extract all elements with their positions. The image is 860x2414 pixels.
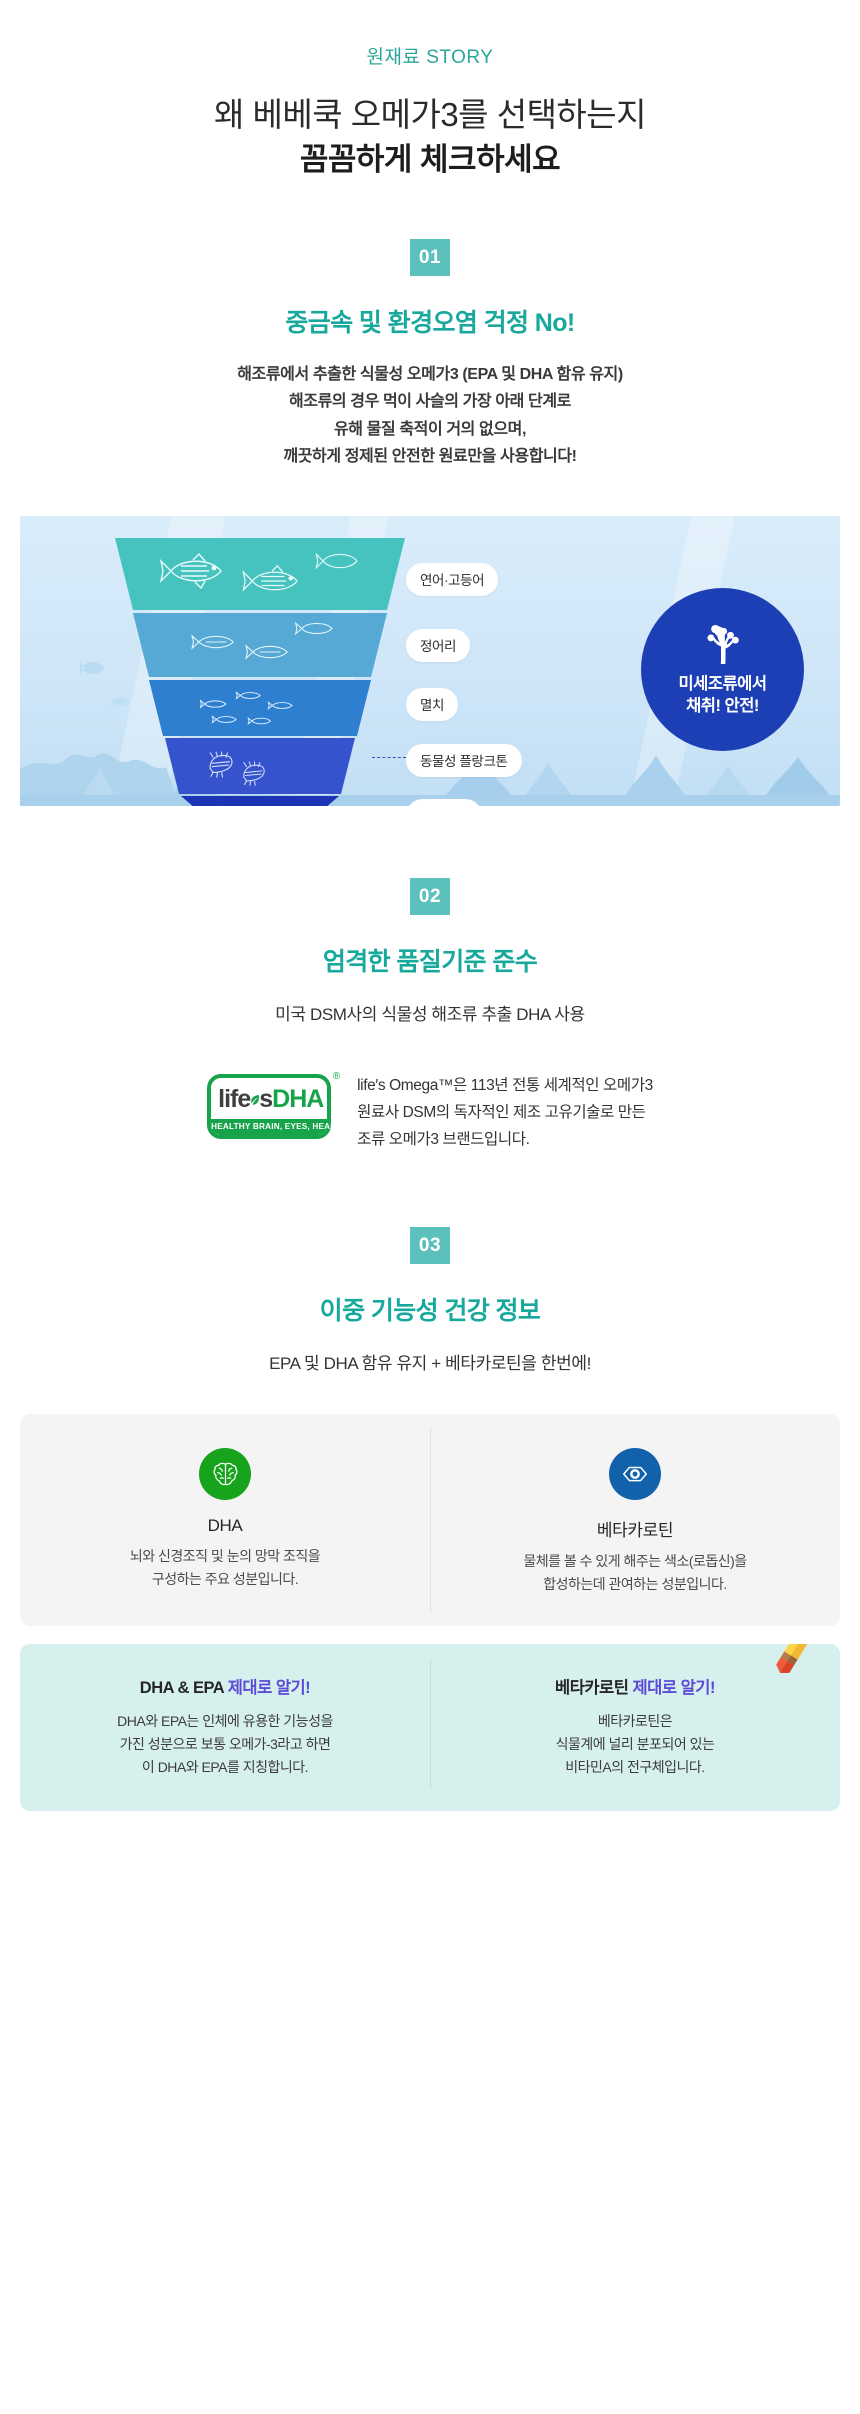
tip-card-title: DHA & EPA 제대로 알기! xyxy=(36,1674,414,1698)
tip-card-group: DHA & EPA 제대로 알기! DHA와 EPA는 인체에 유용한 기능성을… xyxy=(20,1644,840,1812)
step-chip-03-wrap: 03 xyxy=(0,1227,860,1264)
pyramid-level-5 xyxy=(115,796,405,806)
tip-desc-line-1: 베타카로틴은 xyxy=(446,1710,824,1733)
fish-large-icon xyxy=(159,552,227,590)
headline-line-1: 왜 베베쿡 오메가3를 선택하는지 xyxy=(0,93,860,137)
food-chain-funnel xyxy=(115,538,405,788)
lifes-omega-copy: life′s Omega™은 113년 전통 세계적인 오메가3 원료사 DSM… xyxy=(357,1070,653,1153)
pyramid-label-2: 정어리 xyxy=(406,629,470,662)
fish-medium-icon xyxy=(243,639,293,665)
tip-card-dha-epa: DHA & EPA 제대로 알기! DHA와 EPA는 인체에 유용한 기능성을… xyxy=(20,1644,430,1806)
step-number-01: 01 xyxy=(410,239,450,276)
tip-title-highlight: 제대로 알기! xyxy=(228,1679,310,1697)
lifes-dha-block: ® lifesDHA HEALTHY BRAIN, EYES, HEART li… xyxy=(0,1070,860,1153)
step-number-03: 03 xyxy=(410,1227,450,1264)
section-01-body: 해조류에서 추출한 식물성 오메가3 (EPA 및 DHA 함유 유지) 해조류… xyxy=(0,361,860,471)
microalgae-icon xyxy=(207,804,229,806)
feature-card-group: DHA 뇌와 신경조직 및 눈의 망막 조직을 구성하는 주요 성분입니다. 베… xyxy=(20,1414,840,1625)
pyramid-level-2 xyxy=(115,613,405,677)
background-fish-1-icon xyxy=(78,658,108,678)
tip-desc-line-1: DHA와 EPA는 인체에 유용한 기능성을 xyxy=(36,1710,414,1733)
fish-medium-icon xyxy=(293,617,337,640)
eye-icon xyxy=(620,1459,650,1489)
feature-card-title: DHA xyxy=(38,1516,412,1536)
logo-word-dha: DHA xyxy=(272,1085,323,1113)
section-01-line-3: 유해 물질 축적이 거의 없으며, xyxy=(0,416,860,444)
pyramid-level-4 xyxy=(115,738,405,794)
fish-small-icon xyxy=(199,696,229,712)
plankton-icon xyxy=(203,750,237,780)
eye-icon-badge xyxy=(609,1448,661,1500)
leader-line-4 xyxy=(372,757,406,758)
feature-card-desc: 물체를 볼 수 있게 해주는 색소(로돕신)을 합성하는데 관여하는 성분입니다… xyxy=(448,1550,822,1595)
pyramid-level-1 xyxy=(115,538,405,610)
copy-line-1: life′s Omega™은 113년 전통 세계적인 오메가3 xyxy=(357,1072,653,1099)
feature-desc-line-2: 구성하는 주요 성분입니다. xyxy=(38,1568,412,1591)
tip-desc-line-3: 비타민A의 전구체입니다. xyxy=(446,1756,824,1779)
copy-line-2: 원료사 DSM의 독자적인 제조 고유기술로 만든 xyxy=(357,1099,653,1126)
eyebrow-label: 원재료 STORY xyxy=(0,0,860,69)
fish-small-icon xyxy=(211,712,239,727)
tip-desc-line-2: 가진 성분으로 보통 오메가-3라고 하면 xyxy=(36,1733,414,1756)
tip-title-plain: DHA & EPA xyxy=(140,1679,228,1697)
fish-small-icon xyxy=(267,698,295,713)
tip-card-title: 베타카로틴 제대로 알기! xyxy=(446,1674,824,1698)
feature-desc-line-1: 물체를 볼 수 있게 해주는 색소(로돕신)을 xyxy=(448,1550,822,1573)
pyramid-level-3 xyxy=(115,680,405,736)
feature-card-desc: 뇌와 신경조직 및 눈의 망막 조직을 구성하는 주요 성분입니다. xyxy=(38,1545,412,1590)
feature-desc-line-1: 뇌와 신경조직 및 눈의 망막 조직을 xyxy=(38,1545,412,1568)
section-03-subtitle: EPA 및 DHA 함유 유지 + 베타카로틴을 한번에! xyxy=(0,1349,860,1374)
tip-title-highlight: 제대로 알기! xyxy=(633,1679,715,1697)
badge-line-2: 채취! 안전! xyxy=(678,695,766,717)
section-01-line-4: 깨끗하게 정제된 안전한 원료만을 사용합니다! xyxy=(0,443,860,471)
logo-wordmark: lifesDHA xyxy=(218,1087,320,1112)
pyramid-label-4: 동물성 플랑크톤 xyxy=(406,744,522,777)
food-chain-illustration: 연어·고등어 정어리 멸치 동물성 플랑크톤 미세조류 미세조류에서 채취! 안… xyxy=(20,516,840,806)
brain-icon-badge xyxy=(199,1448,251,1500)
pyramid-label-1: 연어·고등어 xyxy=(406,563,498,596)
tip-desc-line-3: 이 DHA와 EPA를 지칭합니다. xyxy=(36,1756,414,1779)
brain-icon xyxy=(212,1461,239,1488)
feature-card-dha: DHA 뇌와 신경조직 및 눈의 망막 조직을 구성하는 주요 성분입니다. xyxy=(20,1414,430,1625)
badge-text: 미세조류에서 채취! 안전! xyxy=(678,673,766,718)
logo-tagline: HEALTHY BRAIN, EYES, HEART xyxy=(211,1119,327,1135)
tip-card-desc: DHA와 EPA는 인체에 유용한 기능성을 가진 성분으로 보통 오메가-3라… xyxy=(36,1710,414,1780)
fish-small-icon xyxy=(235,688,263,703)
feature-card-title: 베타카로틴 xyxy=(448,1516,822,1541)
registered-mark: ® xyxy=(333,1071,340,1082)
product-detail-page: 원재료 STORY 왜 베베쿡 오메가3를 선택하는지 꼼꼼하게 체크하세요 0… xyxy=(0,0,860,2414)
copy-line-3: 조류 오메가3 브랜드입니다. xyxy=(357,1126,653,1153)
bottom-spacer xyxy=(0,1811,860,1871)
section-01-title: 중금속 및 환경오염 걱정 No! xyxy=(0,303,860,339)
fish-large-icon xyxy=(241,564,303,598)
section-01-line-1: 해조류에서 추출한 식물성 오메가3 (EPA 및 DHA 함유 유지) xyxy=(0,361,860,389)
section-03-title: 이중 기능성 건강 정보 xyxy=(0,1291,860,1327)
plankton-icon xyxy=(237,760,269,788)
feature-desc-line-2: 합성하는데 관여하는 성분입니다. xyxy=(448,1573,822,1596)
section-01-line-2: 해조류의 경우 먹이 사슬의 가장 아래 단계로 xyxy=(0,388,860,416)
tip-card-beta-carotene: 베타카로틴 제대로 알기! 베타카로틴은 식물계에 널리 분포되어 있는 비타민… xyxy=(430,1644,840,1806)
badge-line-1: 미세조류에서 xyxy=(678,673,766,695)
page-title: 왜 베베쿡 오메가3를 선택하는지 꼼꼼하게 체크하세요 xyxy=(0,93,860,181)
microalgae-badge: 미세조류에서 채취! 안전! xyxy=(641,588,804,751)
logo-frame: lifesDHA HEALTHY BRAIN, EYES, HEART xyxy=(207,1074,331,1139)
section-02-title: 엄격한 품질기준 준수 xyxy=(0,942,860,978)
pyramid-label-3: 멸치 xyxy=(406,688,458,721)
fish-small-icon xyxy=(247,714,273,728)
lifes-dha-logo: ® lifesDHA HEALTHY BRAIN, EYES, HEART xyxy=(207,1074,331,1139)
step-number-02: 02 xyxy=(410,878,450,915)
logo-word-life: life xyxy=(218,1085,250,1113)
section-02-subtitle: 미국 DSM사의 식물성 해조류 추출 DHA 사용 xyxy=(0,1000,860,1025)
headline-line-2: 꼼꼼하게 체크하세요 xyxy=(0,139,860,181)
step-chip-01-wrap: 01 xyxy=(0,239,860,276)
coral-icon xyxy=(700,621,746,665)
step-chip-02-wrap: 02 xyxy=(0,878,860,915)
tip-card-desc: 베타카로틴은 식물계에 널리 분포되어 있는 비타민A의 전구체입니다. xyxy=(446,1710,824,1780)
fish-large-icon xyxy=(315,548,361,574)
tip-title-plain: 베타카로틴 xyxy=(555,1679,632,1697)
fish-medium-icon xyxy=(189,629,239,655)
tip-desc-line-2: 식물계에 널리 분포되어 있는 xyxy=(446,1733,824,1756)
feature-card-beta-carotene: 베타카로틴 물체를 볼 수 있게 해주는 색소(로돕신)을 합성하는데 관여하는… xyxy=(430,1414,840,1625)
pyramid-label-5: 미세조류 xyxy=(406,799,482,806)
logo-word-s: s xyxy=(259,1085,272,1113)
